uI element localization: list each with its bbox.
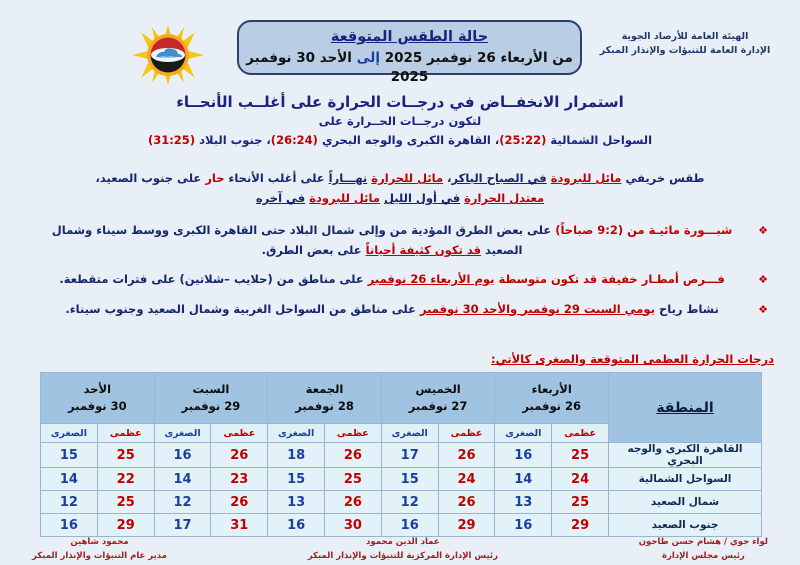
summary-seg-1: طقس خريفي: [621, 171, 704, 185]
report-sheet: الهيئة العامة للأرصاد الجوية الإدارة الع…: [18, 8, 782, 557]
temperature-table: المنطقة الأربعاء26 نوفمبرالخميس27 نوفمبر…: [40, 372, 762, 537]
report-footer: محمود شاهينمدير عام التنبؤات والإنذار ال…: [18, 536, 782, 563]
day-date: 27 نوفمبر: [382, 398, 495, 415]
day-date: 26 نوفمبر: [495, 398, 608, 415]
bullet-segment-4: قد تكون كثيفة أحياناً: [366, 243, 481, 257]
bullet-text: شبـــورة مائيـة من (9:2 صباحاً) على بعض …: [32, 220, 752, 260]
table-cell-min-r2-d1: 14: [495, 468, 552, 491]
day-date: 30 نوفمبر: [41, 398, 154, 415]
table-cell-max-r3-d5: 25: [97, 491, 154, 514]
table-cell-max-r2-d2: 24: [438, 468, 495, 491]
summary-seg-6: مائل للحرارة: [371, 171, 443, 185]
bullet-segment-1: نشاط رياح: [655, 302, 719, 316]
bullet-segment-1: فـــرص أمطـار خفيفة قد تكون متوسطة: [494, 272, 724, 286]
bullet-segment-1: شبـــورة مائيـة من: [623, 223, 732, 237]
table-cell-min-r2-d4: 14: [154, 468, 211, 491]
table-cell-min-r1-d3: 18: [268, 443, 325, 468]
page-title: حالة الطقس المتوقعة: [239, 28, 580, 47]
table-caption: درجات الحرارة العظمى المتوقعة والصغرى كا…: [491, 352, 774, 366]
bullet-segment-3: على مناطق من (حلايب –شلاتين) على فترات م…: [59, 272, 367, 286]
table-subheader-min-1: الصغرى: [495, 424, 552, 443]
bullet-wind: ❖نشاط رياح يومي السبت 29 نوفمبر والأحد 3…: [18, 299, 782, 319]
table-row: شمال الصعيد25132612261326122512: [41, 491, 762, 514]
summary-seg-9: على أغلب الأنحاء: [224, 171, 328, 185]
table-head-row-days: المنطقة الأربعاء26 نوفمبرالخميس27 نوفمبر…: [41, 373, 762, 424]
table-subheader-max-5: عظمى: [97, 424, 154, 443]
date-range-separator: إلى: [357, 50, 380, 66]
title-box: حالة الطقس المتوقعة من الأربعاء 26 نوفمب…: [237, 20, 582, 75]
bullet-rain: ❖فـــرص أمطـار خفيفة قد تكون متوسطة يوم …: [18, 269, 782, 289]
bullet-marker-icon: ❖: [758, 270, 768, 289]
table-cell-min-r2-d5: 14: [41, 468, 98, 491]
table-header-region: المنطقة: [609, 373, 762, 443]
bullet-marker-icon: ❖: [758, 300, 768, 319]
table-cell-max-r3-d1: 25: [552, 491, 609, 514]
table-header-day-2: الخميس27 نوفمبر: [381, 373, 495, 424]
bullet-text: نشاط رياح يومي السبت 29 نوفمبر والأحد 30…: [32, 299, 752, 319]
summary-line-2: معتدل الحرارة في أول الليل مائل للبرودة …: [18, 188, 782, 208]
region-south-label: ، جنوب البلاد: [195, 133, 271, 147]
agency-name-block: الهيئة العامة للأرصاد الجوية الإدارة الع…: [590, 30, 780, 59]
day-name: الأربعاء: [495, 381, 608, 398]
table-cell-min-r2-d3: 15: [268, 468, 325, 491]
day-date: 28 نوفمبر: [268, 398, 381, 415]
bullet-marker-icon: ❖: [758, 221, 768, 240]
table-cell-max-r4-d5: 29: [97, 514, 154, 537]
temperature-table-wrap: المنطقة الأربعاء26 نوفمبرالخميس27 نوفمبر…: [40, 372, 762, 537]
table-cell-max-r3-d2: 26: [438, 491, 495, 514]
day-name: الجمعة: [268, 381, 381, 398]
table-cell-max-r2-d3: 25: [325, 468, 382, 491]
region-cairo-delta-value: (26:24): [271, 133, 318, 147]
signature-name: محمود شاهين: [32, 536, 167, 550]
summary-seg-16: مائل للبرودة: [309, 191, 380, 205]
table-cell-min-r3-d4: 12: [154, 491, 211, 514]
table-subheader-max-4: عظمى: [211, 424, 268, 443]
table-cell-min-r3-d3: 13: [268, 491, 325, 514]
table-cell-region: جنوب الصعيد: [609, 514, 762, 537]
day-name: السبت: [155, 381, 268, 398]
egypt-meteorological-authority-logo-icon: [132, 25, 204, 85]
table-subheader-min-2: الصغرى: [381, 424, 438, 443]
table-cell-max-r1-d1: 25: [552, 443, 609, 468]
bullet-segment-5: على بعض الطرق.: [262, 243, 366, 257]
summary-seg-10: حار: [205, 171, 224, 185]
table-cell-min-r2-d2: 15: [381, 468, 438, 491]
headline-block: استمرار الانخفــاض في درجــات الحرارة عل…: [18, 92, 782, 149]
date-range: من الأربعاء 26 نوفمبر 2025 إلى الأحد 30 …: [239, 49, 580, 87]
table-cell-region: شمال الصعيد: [609, 491, 762, 514]
table-cell-max-r2-d5: 22: [97, 468, 154, 491]
bullet-list: ❖شبـــورة مائيـة من (9:2 صباحاً) على بعض…: [18, 220, 782, 328]
region-north-coast-label: السواحل الشمالية: [546, 133, 652, 147]
bullet-segment-3: على مناطق من السواحل الغربية وشمال الصعي…: [65, 302, 420, 316]
table-subheader-max-2: عظمى: [438, 424, 495, 443]
summary-seg-4: في الصباح الباكر: [452, 171, 547, 185]
table-cell-max-r4-d4: 31: [211, 514, 268, 537]
table-subheader-min-4: الصغرى: [154, 424, 211, 443]
table-cell-min-r1-d2: 17: [381, 443, 438, 468]
table-subheader-max-3: عظمى: [325, 424, 382, 443]
table-header-day-3: الجمعة28 نوفمبر: [268, 373, 382, 424]
region-cairo-delta-label: ، القاهرة الكبرى والوجه البحري: [318, 133, 499, 147]
table-cell-max-r4-d2: 29: [438, 514, 495, 537]
table-header-day-5: الأحد30 نوفمبر: [41, 373, 155, 424]
signature-role: مدير عام التنبؤات والإنذار المبكر: [32, 550, 167, 564]
table-subheader-min-5: الصغرى: [41, 424, 98, 443]
day-name: الخميس: [382, 381, 495, 398]
signature-block-3: لواء جوي / هشام حسن طاحونرئيس مجلس الإدا…: [639, 536, 768, 563]
table-cell-min-r3-d1: 13: [495, 491, 552, 514]
bullet-segment-2: يوم الأربعاء 26 نوفمبر: [368, 272, 495, 286]
table-header-day-1: الأربعاء26 نوفمبر: [495, 373, 609, 424]
table-row: القاهرة الكبرى والوجه البحري251626172618…: [41, 443, 762, 468]
region-north-coast-value: (25:22): [499, 133, 546, 147]
table-cell-min-r4-d2: 16: [381, 514, 438, 537]
table-cell-min-r4-d3: 16: [268, 514, 325, 537]
summary-paragraph: طقس خريفي مائل للبرودة في الصباح الباكر،…: [18, 168, 782, 208]
signature-block-1: محمود شاهينمدير عام التنبؤات والإنذار ال…: [32, 536, 167, 563]
table-cell-max-r1-d4: 26: [211, 443, 268, 468]
table-row: السواحل الشمالية24142415251523142214: [41, 468, 762, 491]
agency-line-2: الإدارة العامة للتنبؤات والإنذار المبكر: [590, 44, 780, 58]
table-subheader-min-3: الصغرى: [268, 424, 325, 443]
table-header-day-4: السبت29 نوفمبر: [154, 373, 268, 424]
region-south-value: (31:25): [148, 133, 195, 147]
table-cell-min-r4-d4: 17: [154, 514, 211, 537]
table-cell-max-r4-d1: 29: [552, 514, 609, 537]
headline-main: استمرار الانخفــاض في درجــات الحرارة عل…: [18, 92, 782, 112]
bullet-text: فـــرص أمطـار خفيفة قد تكون متوسطة يوم ا…: [32, 269, 752, 289]
report-header: الهيئة العامة للأرصاد الجوية الإدارة الع…: [18, 8, 782, 88]
table-head: المنطقة الأربعاء26 نوفمبرالخميس27 نوفمبر…: [41, 373, 762, 443]
summary-seg-11: على جنوب الصعيد،: [96, 171, 206, 185]
day-name: الأحد: [41, 381, 154, 398]
signature-role: رئيس الإدارة المركزية للتنبؤات والإنذار …: [308, 550, 498, 564]
table-subheader-max-1: عظمى: [552, 424, 609, 443]
summary-seg-12: معتدل الحرارة: [464, 191, 544, 205]
date-range-start: من الأربعاء 26 نوفمبر 2025: [380, 50, 573, 66]
table-cell-min-r1-d4: 16: [154, 443, 211, 468]
weather-report-page: الهيئة العامة للأرصاد الجوية الإدارة الع…: [0, 0, 800, 565]
day-date: 29 نوفمبر: [155, 398, 268, 415]
table-cell-max-r1-d3: 26: [325, 443, 382, 468]
table-cell-max-r3-d4: 26: [211, 491, 268, 514]
table-cell-min-r3-d2: 12: [381, 491, 438, 514]
signature-name: عماد الدين محمود: [308, 536, 498, 550]
table-cell-min-r1-d5: 15: [41, 443, 98, 468]
agency-line-1: الهيئة العامة للأرصاد الجوية: [590, 30, 780, 44]
headline-values: السواحل الشمالية (25:22)، القاهرة الكبرى…: [18, 132, 782, 149]
summary-seg-14: في أول الليل: [384, 191, 460, 205]
table-cell-max-r4-d3: 30: [325, 514, 382, 537]
table-cell-min-r4-d5: 16: [41, 514, 98, 537]
table-cell-min-r3-d5: 12: [41, 491, 98, 514]
table-cell-region: القاهرة الكبرى والوجه البحري: [609, 443, 762, 468]
bullet-segment-2: (9:2 صباحاً): [555, 223, 623, 237]
bullet-fog: ❖شبـــورة مائيـة من (9:2 صباحاً) على بعض…: [18, 220, 782, 260]
table-cell-max-r2-d1: 24: [552, 468, 609, 491]
table-cell-min-r1-d1: 16: [495, 443, 552, 468]
table-cell-min-r4-d1: 16: [495, 514, 552, 537]
signature-block-2: عماد الدين محمودرئيس الإدارة المركزية لل…: [308, 536, 498, 563]
signature-role: رئيس مجلس الإدارة: [639, 550, 768, 564]
signature-name: لواء جوي / هشام حسن طاحون: [639, 536, 768, 550]
table-cell-max-r3-d3: 26: [325, 491, 382, 514]
table-cell-max-r2-d4: 23: [211, 468, 268, 491]
summary-seg-8: نهـــاراً: [329, 171, 368, 185]
summary-seg-5: ،: [443, 171, 451, 185]
bullet-segment-2: يومي السبت 29 نوفمبر والأحد 30 نوفمبر: [420, 302, 655, 316]
table-cell-region: السواحل الشمالية: [609, 468, 762, 491]
table-cell-max-r1-d5: 25: [97, 443, 154, 468]
summary-seg-2: مائل للبرودة: [551, 171, 622, 185]
summary-line-1: طقس خريفي مائل للبرودة في الصباح الباكر،…: [18, 168, 782, 188]
table-cell-max-r1-d2: 26: [438, 443, 495, 468]
summary-seg-18: في آخره: [256, 191, 305, 205]
headline-sub: لتكون درجــات الحــرارة على: [18, 113, 782, 130]
table-row: جنوب الصعيد29162916301631172916: [41, 514, 762, 537]
table-body: القاهرة الكبرى والوجه البحري251626172618…: [41, 443, 762, 537]
